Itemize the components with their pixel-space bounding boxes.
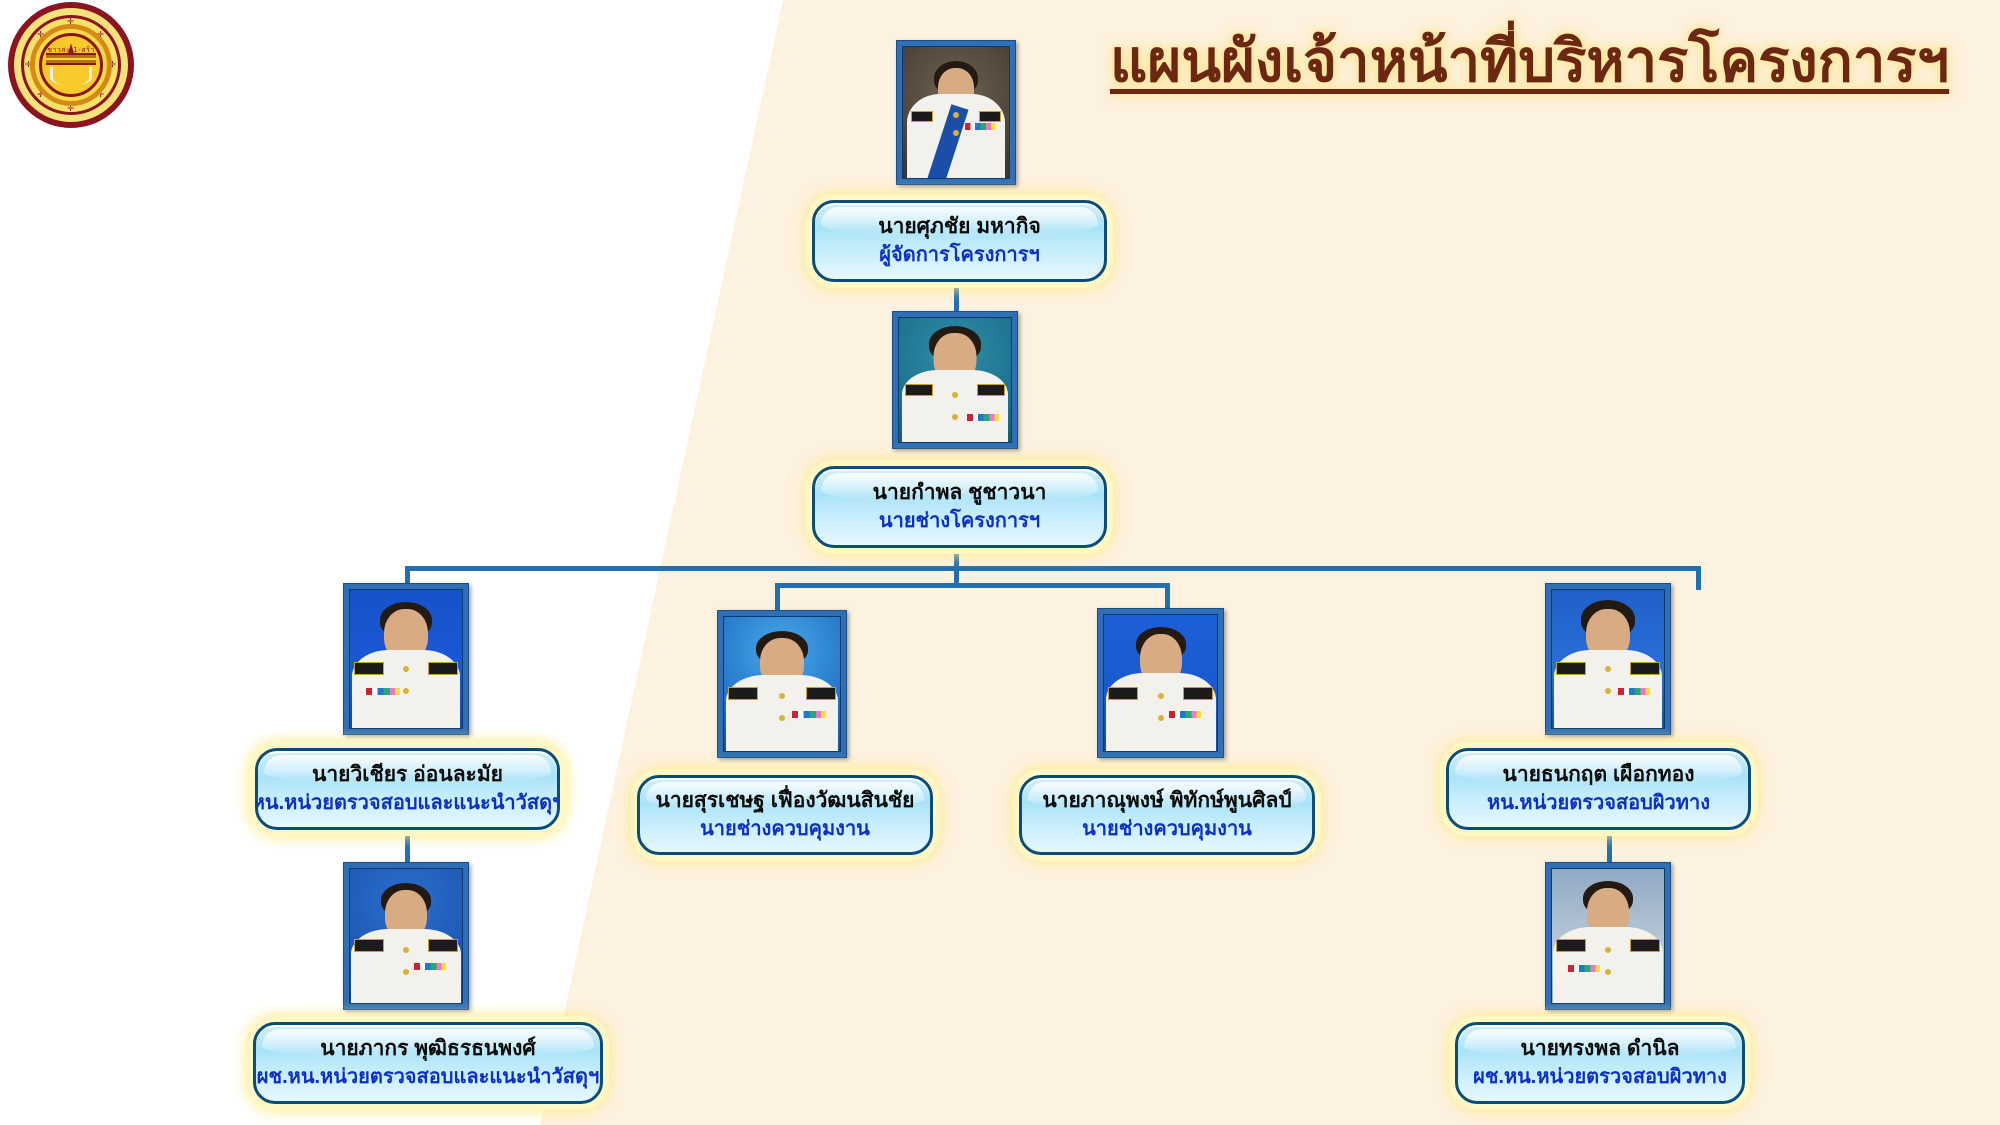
connector-material-head-to-assistant xyxy=(405,829,410,862)
node-site-supervisor-1[interactable]: นายสุรเชษฐ เฟื่องวัฒนสินชัย นายช่างควบคุ… xyxy=(637,775,933,855)
node-assistant-pavement-inspection[interactable]: นายทรงพล ดำนิล ผช.หน.หน่วยตรวจสอบผิวทาง xyxy=(1455,1022,1745,1104)
node-project-manager[interactable]: นายศุภชัย มหากิจ ผู้จัดการโครงการฯ xyxy=(812,200,1107,282)
node-assistant-material-inspection[interactable]: นายภากร พุฒิธรธนพงศ์ ผช.หน.หน่วยตรวจสอบแ… xyxy=(253,1022,603,1104)
node-name: นายภากร พุฒิธรธนพงศ์ xyxy=(320,1036,535,1061)
node-head-material-inspection[interactable]: นายวิเชียร อ่อนละมัย หน.หน่วยตรวจสอบและแ… xyxy=(255,748,560,830)
node-position: ผู้จัดการโครงการฯ xyxy=(879,243,1039,268)
connector-pavement-head-to-assistant xyxy=(1607,829,1612,862)
photo-assistant-pavement-inspection xyxy=(1545,862,1671,1010)
seal-bridge-emblem xyxy=(44,47,98,87)
connector-drop-supervisor-1 xyxy=(775,583,780,610)
node-name: นายธนกฤต เผือกทอง xyxy=(1502,762,1694,787)
node-position: ผช.หน.หน่วยตรวจสอบและแนะนำวัสดุฯ xyxy=(257,1065,599,1090)
agency-seal-logo: ✛ ✛ ✛ ✛ ✛ ✛ ✛ ✛ ชาวสะ-1-สร้า xyxy=(8,2,134,128)
node-position: ผช.หน.หน่วยตรวจสอบผิวทาง xyxy=(1473,1065,1727,1090)
node-position: นายช่างควบคุมงาน xyxy=(1082,817,1252,842)
node-name: นายภาณุพงษ์ พิทักษ์พูนศิลป์ xyxy=(1042,788,1291,813)
photo-project-engineer xyxy=(892,311,1018,449)
node-name: นายทรงพล ดำนิล xyxy=(1520,1036,1679,1061)
node-name: นายศุภชัย มหากิจ xyxy=(878,214,1041,239)
node-site-supervisor-2[interactable]: นายภาณุพงษ์ พิทักษ์พูนศิลป์ นายช่างควบคุ… xyxy=(1019,775,1315,855)
seal-core: ชาวสะ-1-สร้า xyxy=(39,33,103,97)
connector-bus-outer xyxy=(405,566,1701,571)
photo-assistant-material-inspection xyxy=(343,862,469,1010)
node-name: นายวิเชียร อ่อนละมัย xyxy=(312,762,503,787)
node-name: นายกำพล ชูชาวนา xyxy=(873,480,1047,505)
connector-pm-to-engineer xyxy=(954,282,959,312)
connector-bus-inner xyxy=(775,583,1170,588)
seal-cross-bottom: ✛ xyxy=(67,105,74,112)
seal-bridge-shape xyxy=(46,53,96,65)
node-project-engineer[interactable]: นายกำพล ชูชาวนา นายช่างโครงการฯ xyxy=(812,466,1107,548)
node-name: นายสุรเชษฐ เฟื่องวัฒนสินชัย xyxy=(655,788,914,813)
connector-drop-pavement-head xyxy=(1696,566,1701,590)
seal-water-shape xyxy=(50,67,92,85)
node-head-pavement-inspection[interactable]: นายธนกฤต เผือกทอง หน.หน่วยตรวจสอบผิวทาง xyxy=(1446,748,1751,830)
photo-site-supervisor-1 xyxy=(717,610,847,758)
photo-site-supervisor-2 xyxy=(1097,608,1224,758)
page-title: แผนผังเจ้าหน้าที่บริหารโครงการฯ xyxy=(1110,14,1949,107)
photo-head-pavement-inspection xyxy=(1545,583,1671,735)
connector-drop-supervisor-2 xyxy=(1165,583,1170,608)
photo-head-material-inspection xyxy=(343,583,469,735)
node-position: หน.หน่วยตรวจสอบผิวทาง xyxy=(1487,791,1710,816)
org-chart-canvas: ✛ ✛ ✛ ✛ ✛ ✛ ✛ ✛ ชาวสะ-1-สร้า แผนผังเจ้าห… xyxy=(0,0,2000,1125)
node-position: หน.หน่วยตรวจสอบและแนะนำวัสดุฯ xyxy=(255,791,560,816)
photo-project-manager xyxy=(896,40,1016,185)
node-position: นายช่างโครงการฯ xyxy=(879,509,1040,534)
node-position: นายช่างควบคุมงาน xyxy=(700,817,870,842)
